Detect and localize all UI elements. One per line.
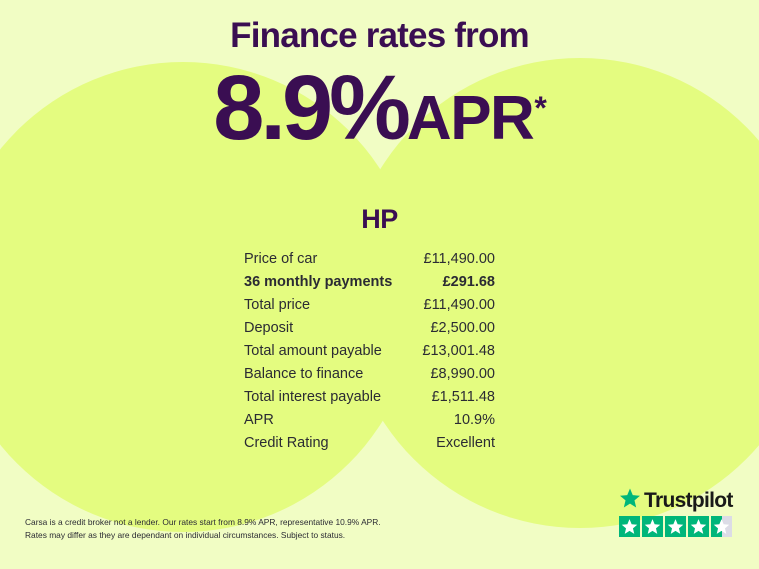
trustpilot-star-rating bbox=[619, 516, 737, 537]
disclaimer-text: Carsa is a credit broker not a lender. O… bbox=[25, 516, 425, 542]
trustpilot-wordmark: Trustpilot bbox=[644, 490, 733, 511]
row-value: £291.68 bbox=[443, 271, 495, 294]
trustpilot-star-icon bbox=[619, 487, 641, 514]
headline-rate: 8.9%APR* bbox=[0, 62, 759, 154]
rating-star-full bbox=[642, 516, 663, 537]
table-row: Credit RatingExcellent bbox=[244, 432, 495, 455]
row-value: 10.9% bbox=[454, 409, 495, 432]
table-row: Price of car£11,490.00 bbox=[244, 248, 495, 271]
row-label: Total amount payable bbox=[244, 340, 382, 363]
row-value: £11,490.00 bbox=[424, 294, 496, 317]
row-label: APR bbox=[244, 409, 274, 432]
row-label: 36 monthly payments bbox=[244, 271, 392, 294]
trustpilot-rating[interactable]: Trustpilot bbox=[619, 488, 737, 537]
table-row: Total interest payable£1,511.48 bbox=[244, 386, 495, 409]
finance-details-table: Price of car£11,490.0036 monthly payment… bbox=[244, 248, 495, 455]
table-row: Balance to finance£8,990.00 bbox=[244, 363, 495, 386]
row-value: £1,511.48 bbox=[432, 386, 495, 409]
row-label: Total price bbox=[244, 294, 310, 317]
rating-star-full bbox=[619, 516, 640, 537]
row-value: Excellent bbox=[436, 432, 495, 455]
row-label: Deposit bbox=[244, 317, 293, 340]
table-row: Deposit£2,500.00 bbox=[244, 317, 495, 340]
table-row: APR10.9% bbox=[244, 409, 495, 432]
table-row: Total price£11,490.00 bbox=[244, 294, 495, 317]
row-value: £13,001.48 bbox=[422, 340, 495, 363]
row-value: £2,500.00 bbox=[430, 317, 495, 340]
row-value: £8,990.00 bbox=[430, 363, 495, 386]
trustpilot-logo: Trustpilot bbox=[619, 488, 737, 512]
finance-promo-poster: Finance rates from 8.9%APR* HP Price of … bbox=[0, 0, 759, 569]
row-label: Total interest payable bbox=[244, 386, 381, 409]
row-value: £11,490.00 bbox=[424, 248, 496, 271]
rating-star-full bbox=[688, 516, 709, 537]
table-row: 36 monthly payments£291.68 bbox=[244, 271, 495, 294]
row-label: Credit Rating bbox=[244, 432, 329, 455]
rating-star-half bbox=[711, 516, 732, 537]
footnote-marker: * bbox=[534, 90, 546, 126]
row-label: Price of car bbox=[244, 248, 317, 271]
poster-content: Finance rates from 8.9%APR* HP Price of … bbox=[0, 0, 759, 569]
disclaimer-line-2: Rates may differ as they are dependant o… bbox=[25, 529, 425, 542]
rate-unit-apr: APR bbox=[407, 84, 533, 153]
row-label: Balance to finance bbox=[244, 363, 363, 386]
finance-plan-title: HP bbox=[0, 206, 759, 233]
rate-percentage: 8.9% bbox=[213, 57, 407, 159]
rating-star-full bbox=[665, 516, 686, 537]
page-title: Finance rates from bbox=[0, 18, 759, 53]
table-row: Total amount payable£13,001.48 bbox=[244, 340, 495, 363]
disclaimer-line-1: Carsa is a credit broker not a lender. O… bbox=[25, 516, 425, 529]
